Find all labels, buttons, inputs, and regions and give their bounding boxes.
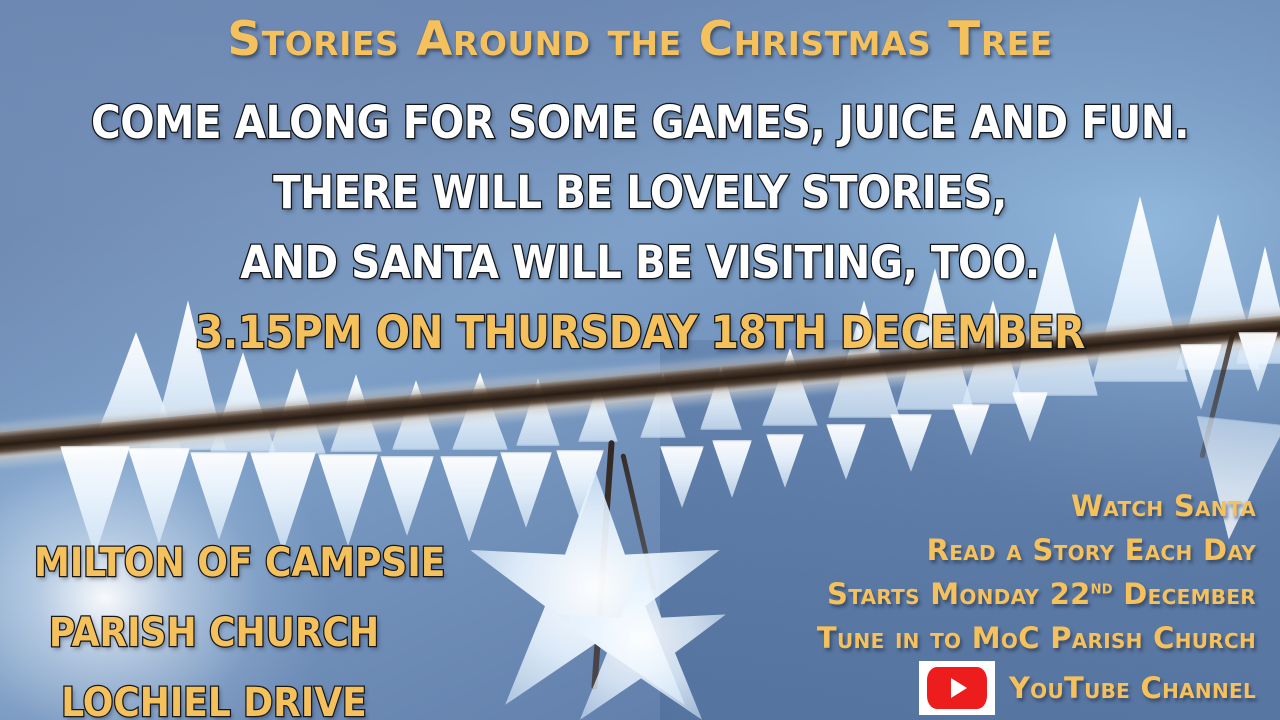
youtube-play-icon[interactable] — [919, 661, 995, 715]
address-line-1: MILTON OF CAMPSIE — [34, 528, 394, 598]
starts-suffix: December — [1113, 577, 1256, 611]
santa-broadcast-block: Watch Santa Read a Story Each Day Starts… — [736, 484, 1256, 716]
page-title: Stories Around the Christmas Tree — [0, 12, 1280, 67]
poster-text-layer: Stories Around the Christmas Tree COME A… — [0, 0, 1280, 720]
santa-line-watch: Watch Santa — [736, 484, 1256, 528]
santa-line-read: Read a Story Each Day — [736, 528, 1256, 572]
santa-line-tunein: Tune in to MoC Parish Church — [736, 616, 1256, 660]
address-line-2: PARISH CHURCH — [34, 598, 394, 668]
play-triangle-icon — [951, 678, 967, 698]
event-time-line: 3.15PM ON THURSDAY 18TH DECEMBER — [0, 306, 1280, 359]
youtube-badge — [927, 667, 987, 709]
body-line-3: AND SANTA WILL BE VISITING, TOO. — [0, 236, 1280, 289]
body-line-1: COME ALONG FOR SOME GAMES, JUICE AND FUN… — [0, 96, 1280, 149]
youtube-channel-row[interactable]: YouTube Channel — [736, 660, 1256, 716]
address-line-3: LOCHIEL DRIVE — [34, 668, 394, 720]
youtube-channel-label: YouTube Channel — [1009, 666, 1256, 710]
starts-prefix: Starts Monday 22 — [827, 577, 1091, 611]
body-line-2: THERE WILL BE LOVELY STORIES, — [0, 166, 1280, 219]
ordinal-suffix: nd — [1091, 577, 1113, 598]
santa-line-starts: Starts Monday 22nd December — [736, 572, 1256, 616]
poster-canvas: Stories Around the Christmas Tree COME A… — [0, 0, 1280, 720]
venue-address-block: MILTON OF CAMPSIE PARISH CHURCH LOCHIEL … — [34, 528, 394, 720]
